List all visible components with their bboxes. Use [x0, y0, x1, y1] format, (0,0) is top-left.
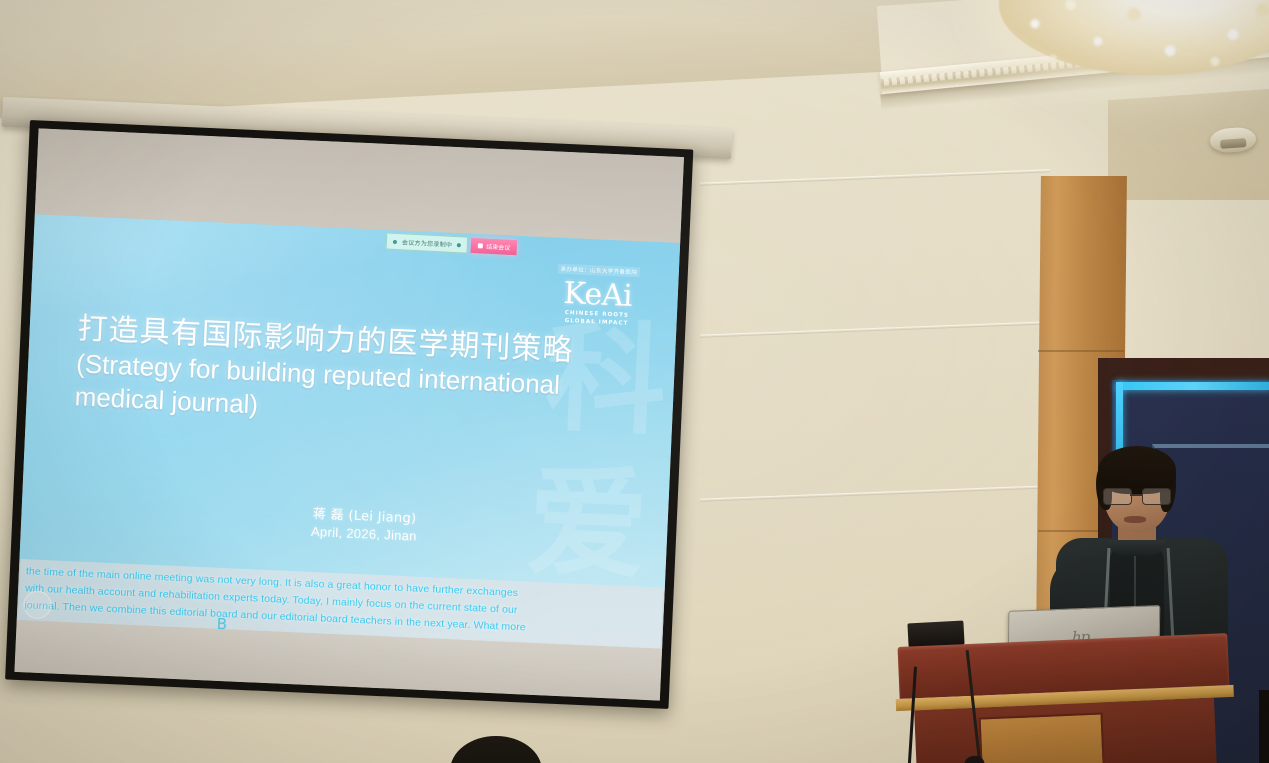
podium-front-panel — [979, 712, 1105, 763]
wood-panel-seam — [1038, 350, 1124, 352]
right-edge-shadow — [1259, 690, 1269, 763]
projection-screen: 科 爱 会议方为您录制中 结束会议 承办单位：山东大学齐 — [4, 120, 701, 729]
end-meeting-button[interactable]: 结束会议 — [471, 238, 518, 255]
presenter-mouth — [1124, 516, 1146, 523]
status-dot-icon — [457, 243, 461, 247]
conference-room-photo: 科 爱 会议方为您录制中 结束会议 承办单位：山东大学齐 — [0, 0, 1269, 763]
keai-logo-block: 承办单位：山东大学齐鲁医院 KeAi CHINESE ROOTS GLOBAL … — [530, 257, 665, 331]
presenter-collar — [1108, 540, 1166, 556]
keai-wordmark: KeAi — [531, 278, 664, 314]
glasses-bridge — [1130, 494, 1142, 496]
door-light-strip — [1116, 382, 1269, 390]
speaker-podium — [898, 633, 1233, 763]
end-call-icon — [478, 243, 483, 248]
meeting-toolbar: 会议方为您录制中 结束会议 — [386, 234, 518, 256]
recording-status-label: 会议方为您录制中 — [402, 237, 453, 249]
glasses-lens-left — [1103, 488, 1132, 505]
presenter-hair — [1098, 446, 1176, 494]
record-dot-icon — [393, 239, 397, 243]
presentation-slide: 科 爱 会议方为您录制中 结束会议 承办单位：山东大学齐 — [17, 214, 680, 648]
screen-surface: 科 爱 会议方为您录制中 结束会议 承办单位：山东大学齐 — [14, 128, 684, 700]
recording-status-pill: 会议方为您录制中 — [386, 233, 469, 254]
glasses-lens-right — [1142, 488, 1171, 505]
end-meeting-label: 结束会议 — [486, 242, 510, 252]
presenter-glasses — [1102, 488, 1172, 503]
podium-microphone-base — [907, 621, 964, 648]
